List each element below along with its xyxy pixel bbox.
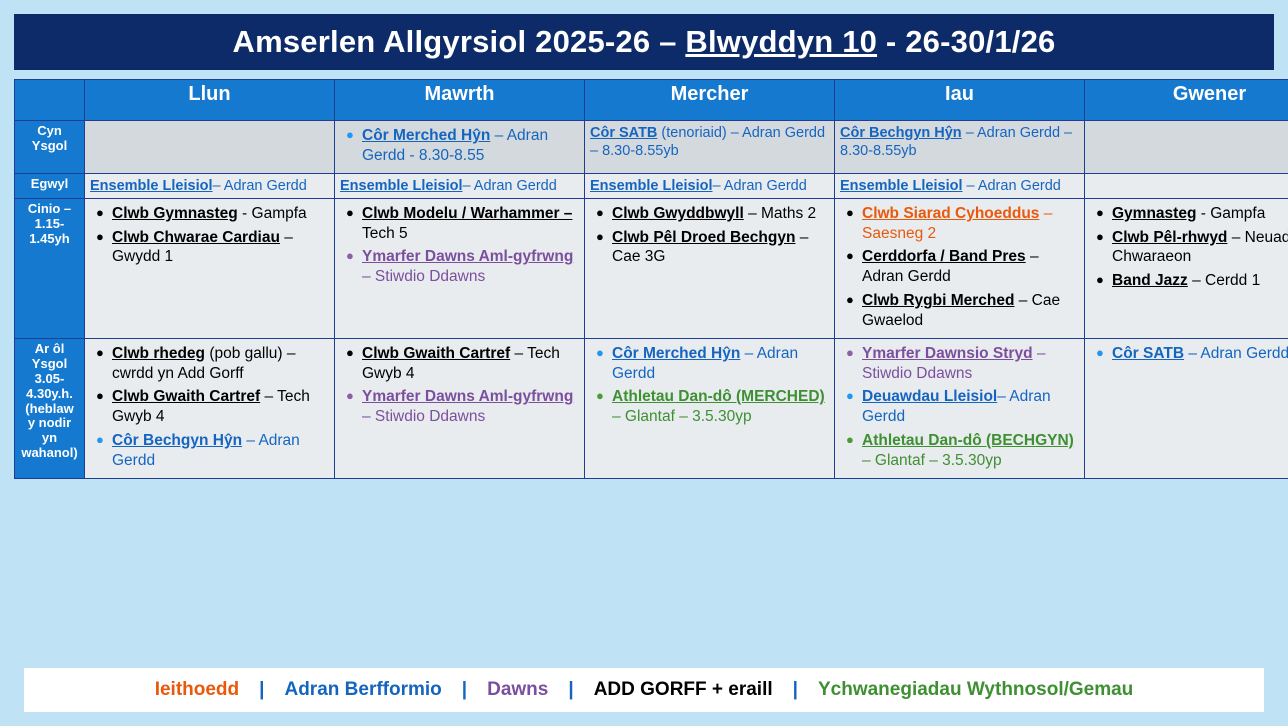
timetable-row: Cinio – 1.15-1.45yhClwb Gymnasteg - Gamp…: [15, 198, 1288, 338]
activity-item: Côr SATB – Adran Gerdd: [1112, 344, 1288, 364]
activity-item: Band Jazz – Cerdd 1: [1112, 271, 1288, 291]
timetable-cell: [1085, 173, 1288, 198]
activity-item: Clwb Pêl Droed Bechgyn – Cae 3G: [612, 228, 829, 268]
timetable-cell: Ensemble Lleisiol– Adran Gerdd: [85, 173, 335, 198]
activity-item: Clwb Gymnasteg - Gampfa: [112, 204, 329, 224]
activity-text: – Maths 2: [744, 205, 816, 222]
activity-text: Athletau Dan-dô (BECHGYN): [862, 432, 1074, 449]
activity-text: – Adran Gerdd: [213, 178, 307, 194]
activity-item: Clwb rhedeg (pob gallu) – cwrdd yn Add G…: [112, 344, 329, 384]
activity-item: Ymarfer Dawns Aml-gyfrwng – Stiwdio Ddaw…: [362, 247, 579, 287]
timetable-cell: [85, 121, 335, 174]
page-title: Amserlen Allgyrsiol 2025-26 – Blwyddyn 1…: [14, 14, 1274, 70]
legend-separator: |: [460, 679, 469, 701]
activity-text: Band Jazz: [1112, 272, 1188, 289]
legend: Ieithoedd|Adran Berfformio|Dawns|ADD GOR…: [24, 668, 1264, 712]
activity-item: Gymnasteg - Gampfa: [1112, 204, 1288, 224]
activity-item: Cerddorfa / Band Pres – Adran Gerdd: [862, 247, 1079, 287]
activity-text: – Adran Gerdd: [713, 178, 807, 194]
activity-text: Gymnasteg: [1112, 205, 1196, 222]
activity-text: Clwb Modelu / Warhammer –: [362, 205, 572, 222]
title-part-3: -: [877, 24, 905, 60]
activity-text: Ensemble Lleisiol: [340, 178, 463, 194]
activity-text: – Adran Gerdd: [1184, 345, 1288, 362]
timetable-row: Cyn YsgolCôr Merched Hŷn – Adran Gerdd -…: [15, 121, 1288, 174]
activity-item: Ensemble Lleisiol– Adran Gerdd: [340, 177, 579, 195]
activity-text: Côr Bechgyn Hŷn: [840, 125, 962, 141]
activity-item: Clwb Gwaith Cartref – Tech Gwyb 4: [112, 387, 329, 427]
activity-text: Clwb Gymnasteg: [112, 205, 238, 222]
timetable-cell: Clwb Gwyddbwyll – Maths 2Clwb Pêl Droed …: [585, 198, 835, 338]
activity-item: Ymarfer Dawnsio Stryd – Stiwdio Ddawns: [862, 344, 1079, 384]
timetable-row: Ar ôl Ysgol 3.05-4.30y.h. (heblaw y nodi…: [15, 338, 1288, 478]
activity-item: Deuawdau Lleisiol– Adran Gerdd: [862, 387, 1079, 427]
timetable-cell: Clwb Gymnasteg - GampfaClwb Chwarae Card…: [85, 198, 335, 338]
activity-item: Clwb Gwaith Cartref – Tech Gwyb 4: [362, 344, 579, 384]
activity-text: Athletau Dan-dô (MERCHED): [612, 388, 825, 405]
activity-text: Clwb Pêl Droed Bechgyn: [612, 229, 795, 246]
legend-item: Dawns: [469, 679, 566, 701]
header-corner: [15, 80, 85, 121]
timetable-cell: Ensemble Lleisiol– Adran Gerdd: [585, 173, 835, 198]
title-part-1: Amserlen Allgyrsiol 2025-26 –: [233, 24, 686, 60]
activity-text: - Gampfa: [238, 205, 307, 222]
header-day-mawrth: Mawrth: [335, 80, 585, 121]
activity-text: Tech 5: [362, 225, 408, 242]
timetable: Llun Mawrth Mercher Iau Gwener Cyn Ysgol…: [14, 79, 1288, 479]
activity-text: Ensemble Lleisiol: [590, 178, 713, 194]
activity-item: Ensemble Lleisiol – Adran Gerdd: [840, 177, 1079, 195]
activity-text: Côr Bechgyn Hŷn: [112, 432, 242, 449]
row-label: Cinio – 1.15-1.45yh: [15, 198, 85, 338]
timetable-cell: Gymnasteg - GampfaClwb Pêl-rhwyd – Neuad…: [1085, 198, 1288, 338]
activity-text: Clwb Pêl-rhwyd: [1112, 229, 1227, 246]
activity-text: – Cerdd 1: [1188, 272, 1260, 289]
legend-item: ADD GORFF + eraill: [576, 679, 791, 701]
timetable-cell: Côr Bechgyn Hŷn – Adran Gerdd – 8.30-8.5…: [835, 121, 1085, 174]
timetable-cell: Clwb Gwaith Cartref – Tech Gwyb 4Ymarfer…: [335, 338, 585, 478]
timetable-cell: Clwb rhedeg (pob gallu) – cwrdd yn Add G…: [85, 338, 335, 478]
timetable-cell: Clwb Siarad Cyhoeddus – Saesneg 2Cerddor…: [835, 198, 1085, 338]
title-date-range: 26-30/1/26: [905, 24, 1055, 60]
timetable-cell: Côr Merched Hŷn – Adran GerddAthletau Da…: [585, 338, 835, 478]
activity-text: – Stiwdio Ddawns: [362, 408, 485, 425]
activity-item: Clwb Chwarae Cardiau – Gwydd 1: [112, 228, 329, 268]
timetable-cell: Ensemble Lleisiol– Adran Gerdd: [335, 173, 585, 198]
activity-text: Clwb Siarad Cyhoeddus: [862, 205, 1039, 222]
activity-item: Clwb Modelu / Warhammer – Tech 5: [362, 204, 579, 244]
activity-item: Clwb Pêl-rhwyd – Neuadd Chwaraeon: [1112, 228, 1288, 268]
legend-item: Ieithoedd: [137, 679, 257, 701]
activity-text: Côr SATB: [1112, 345, 1184, 362]
header-day-iau: Iau: [835, 80, 1085, 121]
activity-text: Clwb Rygbi Merched: [862, 292, 1014, 309]
activity-item: Ymarfer Dawns Aml-gyfrwng – Stiwdio Ddaw…: [362, 387, 579, 427]
timetable-cell: Ensemble Lleisiol – Adran Gerdd: [835, 173, 1085, 198]
activity-text: – Stiwdio Ddawns: [362, 268, 485, 285]
timetable-cell: Ymarfer Dawnsio Stryd – Stiwdio DdawnsDe…: [835, 338, 1085, 478]
timetable-cell: Clwb Modelu / Warhammer – Tech 5Ymarfer …: [335, 198, 585, 338]
timetable-body: Cyn YsgolCôr Merched Hŷn – Adran Gerdd -…: [15, 121, 1288, 479]
activity-item: Clwb Gwyddbwyll – Maths 2: [612, 204, 829, 224]
row-label: Egwyl: [15, 173, 85, 198]
activity-text: – Adran Gerdd: [463, 178, 557, 194]
activity-text: – Adran Gerdd: [963, 178, 1061, 194]
activity-text: – Glantaf – 3.5.30yp: [862, 452, 1002, 469]
activity-text: Ensemble Lleisiol: [840, 178, 963, 194]
activity-item: Côr Merched Hŷn – Adran Gerdd: [612, 344, 829, 384]
timetable-cell: Côr Merched Hŷn – Adran Gerdd - 8.30-8.5…: [335, 121, 585, 174]
timetable-page: Amserlen Allgyrsiol 2025-26 – Blwyddyn 1…: [0, 0, 1288, 726]
activity-text: Cerddorfa / Band Pres: [862, 248, 1026, 265]
header-day-gwener: Gwener: [1085, 80, 1288, 121]
activity-text: Ymarfer Dawns Aml-gyfrwng: [362, 388, 573, 405]
timetable-row: EgwylEnsemble Lleisiol– Adran GerddEnsem…: [15, 173, 1288, 198]
activity-text: Clwb Gwaith Cartref: [362, 345, 510, 362]
activity-item: Ensemble Lleisiol– Adran Gerdd: [590, 177, 829, 195]
row-label: Cyn Ysgol: [15, 121, 85, 174]
activity-text: Côr SATB: [590, 125, 657, 141]
activity-text: Deuawdau Lleisiol: [862, 388, 997, 405]
activity-text: - Gampfa: [1196, 205, 1265, 222]
activity-text: Ymarfer Dawnsio Stryd: [862, 345, 1033, 362]
activity-item: Clwb Siarad Cyhoeddus – Saesneg 2: [862, 204, 1079, 244]
timetable-cell: Côr SATB – Adran Gerdd: [1085, 338, 1288, 478]
activity-item: Athletau Dan-dô (MERCHED) – Glantaf – 3.…: [612, 387, 829, 427]
activity-item: Côr Bechgyn Hŷn – Adran Gerdd: [112, 431, 329, 471]
timetable-cell: Côr SATB (tenoriaid) – Adran Gerdd – 8.3…: [585, 121, 835, 174]
timetable-header: Llun Mawrth Mercher Iau Gwener: [15, 80, 1288, 121]
activity-item: Clwb Rygbi Merched – Cae Gwaelod: [862, 291, 1079, 331]
title-year-group: Blwyddyn 10: [685, 24, 877, 60]
timetable-cell: [1085, 121, 1288, 174]
legend-separator: |: [791, 679, 800, 701]
activity-text: Clwb Gwyddbwyll: [612, 205, 744, 222]
legend-separator: |: [566, 679, 575, 701]
legend-item: Adran Berfformio: [266, 679, 459, 701]
activity-text: Clwb Chwarae Cardiau: [112, 229, 280, 246]
activity-text: Côr Merched Hŷn: [362, 127, 490, 144]
legend-item: Ychwanegiadau Wythnosol/Gemau: [800, 679, 1151, 701]
activity-text: Ensemble Lleisiol: [90, 178, 213, 194]
activity-text: Côr Merched Hŷn: [612, 345, 740, 362]
activity-item: Ensemble Lleisiol– Adran Gerdd: [90, 177, 329, 195]
header-day-llun: Llun: [85, 80, 335, 121]
legend-separator: |: [257, 679, 266, 701]
activity-item: Côr Bechgyn Hŷn – Adran Gerdd – 8.30-8.5…: [840, 124, 1079, 160]
activity-item: Côr SATB (tenoriaid) – Adran Gerdd – 8.3…: [590, 124, 829, 160]
header-day-mercher: Mercher: [585, 80, 835, 121]
activity-text: Ymarfer Dawns Aml-gyfrwng: [362, 248, 573, 265]
row-label: Ar ôl Ysgol 3.05-4.30y.h. (heblaw y nodi…: [15, 338, 85, 478]
activity-text: – Glantaf – 3.5.30yp: [612, 408, 752, 425]
activity-item: Athletau Dan-dô (BECHGYN) – Glantaf – 3.…: [862, 431, 1079, 471]
activity-item: Côr Merched Hŷn – Adran Gerdd - 8.30-8.5…: [362, 126, 579, 166]
activity-text: Clwb Gwaith Cartref: [112, 388, 260, 405]
activity-text: Clwb rhedeg: [112, 345, 205, 362]
